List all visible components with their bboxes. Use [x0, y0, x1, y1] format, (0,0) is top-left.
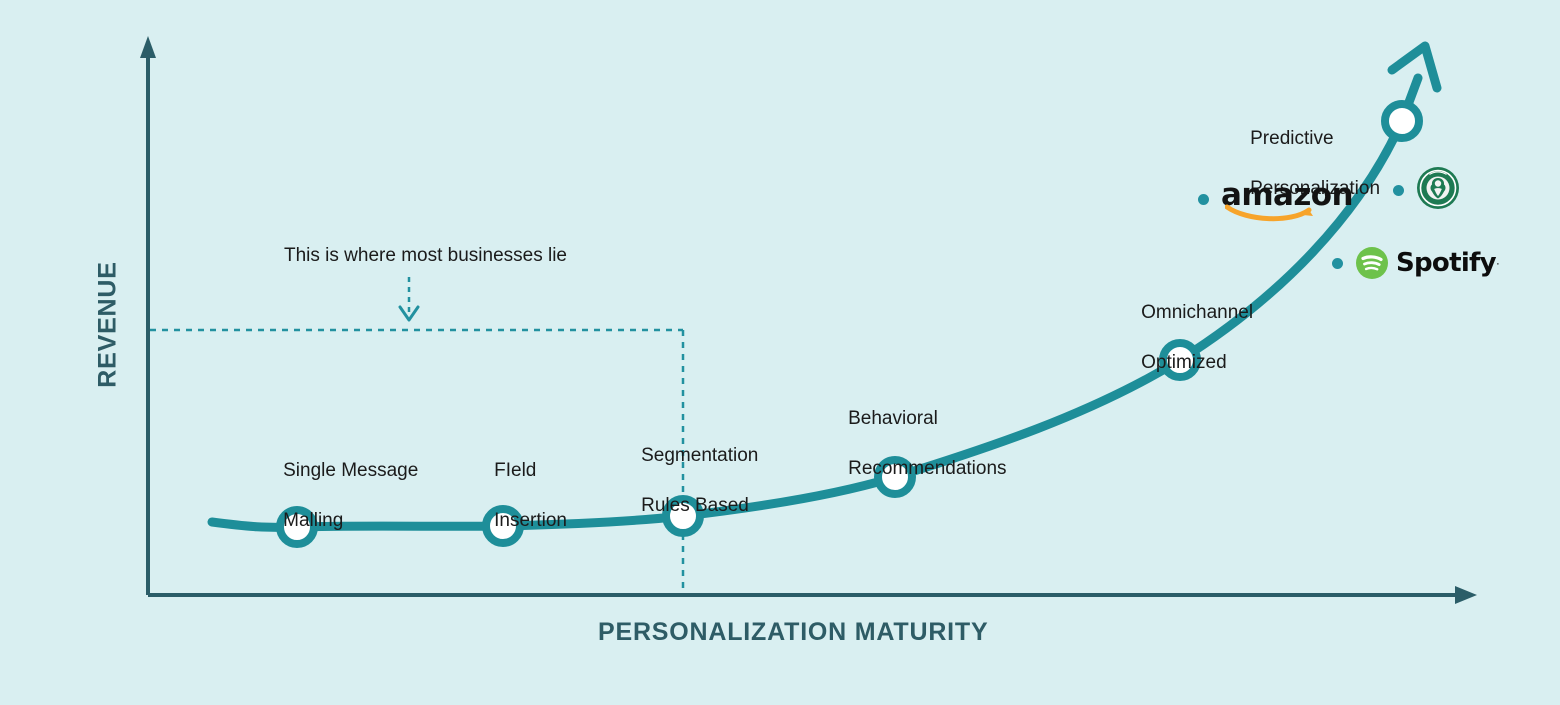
- stage-label-line1: Predictive: [1250, 128, 1333, 149]
- amazon-smile-icon: [1225, 202, 1317, 224]
- brand-bullet-dot-icon: [1332, 258, 1343, 269]
- spotify-wordmark: Spotify: [1396, 248, 1496, 278]
- brand-starbucks: [1393, 166, 1460, 215]
- stage-label-line1: Omnichannel: [1141, 302, 1253, 323]
- starbucks-logo-icon: [1416, 166, 1460, 210]
- stage-label-line2: Insertion: [494, 510, 567, 531]
- spotify-registered-mark: ·: [1496, 256, 1500, 270]
- stage-label-behavioral-recommendations: Behavioral Recommendations: [827, 381, 1007, 506]
- stage-label-line1: Behavioral: [848, 408, 938, 429]
- personalization-maturity-chart: PERSONALIZATION MATURITY REVENUE This is…: [0, 0, 1560, 705]
- brand-spotify: Spotify ·: [1332, 246, 1500, 280]
- stage-label-line1: FIeld: [494, 460, 536, 481]
- y-axis-title: REVENUE: [94, 215, 123, 435]
- stage-label-line2: Malling: [283, 510, 343, 531]
- stage-label-omnichannel-optimized: Omnichannel Optimized: [1120, 275, 1253, 400]
- stage-label-line2: Recommendations: [848, 458, 1006, 479]
- stage-label-line2: Optimized: [1141, 352, 1227, 373]
- stage-label-single-message-malling: Single Message Malling: [262, 433, 418, 558]
- stage-label-field-insertion: FIeld Insertion: [473, 433, 567, 558]
- spotify-logo-icon: [1355, 246, 1389, 280]
- amazon-logo-icon: amazon: [1221, 180, 1319, 218]
- stage-label-segmentation-rules-based: Segmentation Rules Based: [620, 418, 758, 543]
- stage-marker-predictive-personalization[interactable]: [1385, 104, 1419, 138]
- x-axis: [148, 586, 1477, 604]
- brand-amazon: amazon: [1198, 180, 1319, 218]
- stage-label-line2: Rules Based: [641, 495, 749, 516]
- y-axis: [140, 36, 156, 595]
- brand-bullet-dot-icon: [1198, 194, 1209, 205]
- x-axis-title: PERSONALIZATION MATURITY: [598, 618, 988, 647]
- annotation-text: This is where most businesses lie: [284, 243, 567, 268]
- annotation-arrow-icon: [400, 277, 418, 320]
- stage-label-line1: Segmentation: [641, 445, 758, 466]
- stage-label-line1: Single Message: [283, 460, 418, 481]
- brand-bullet-dot-icon: [1393, 185, 1404, 196]
